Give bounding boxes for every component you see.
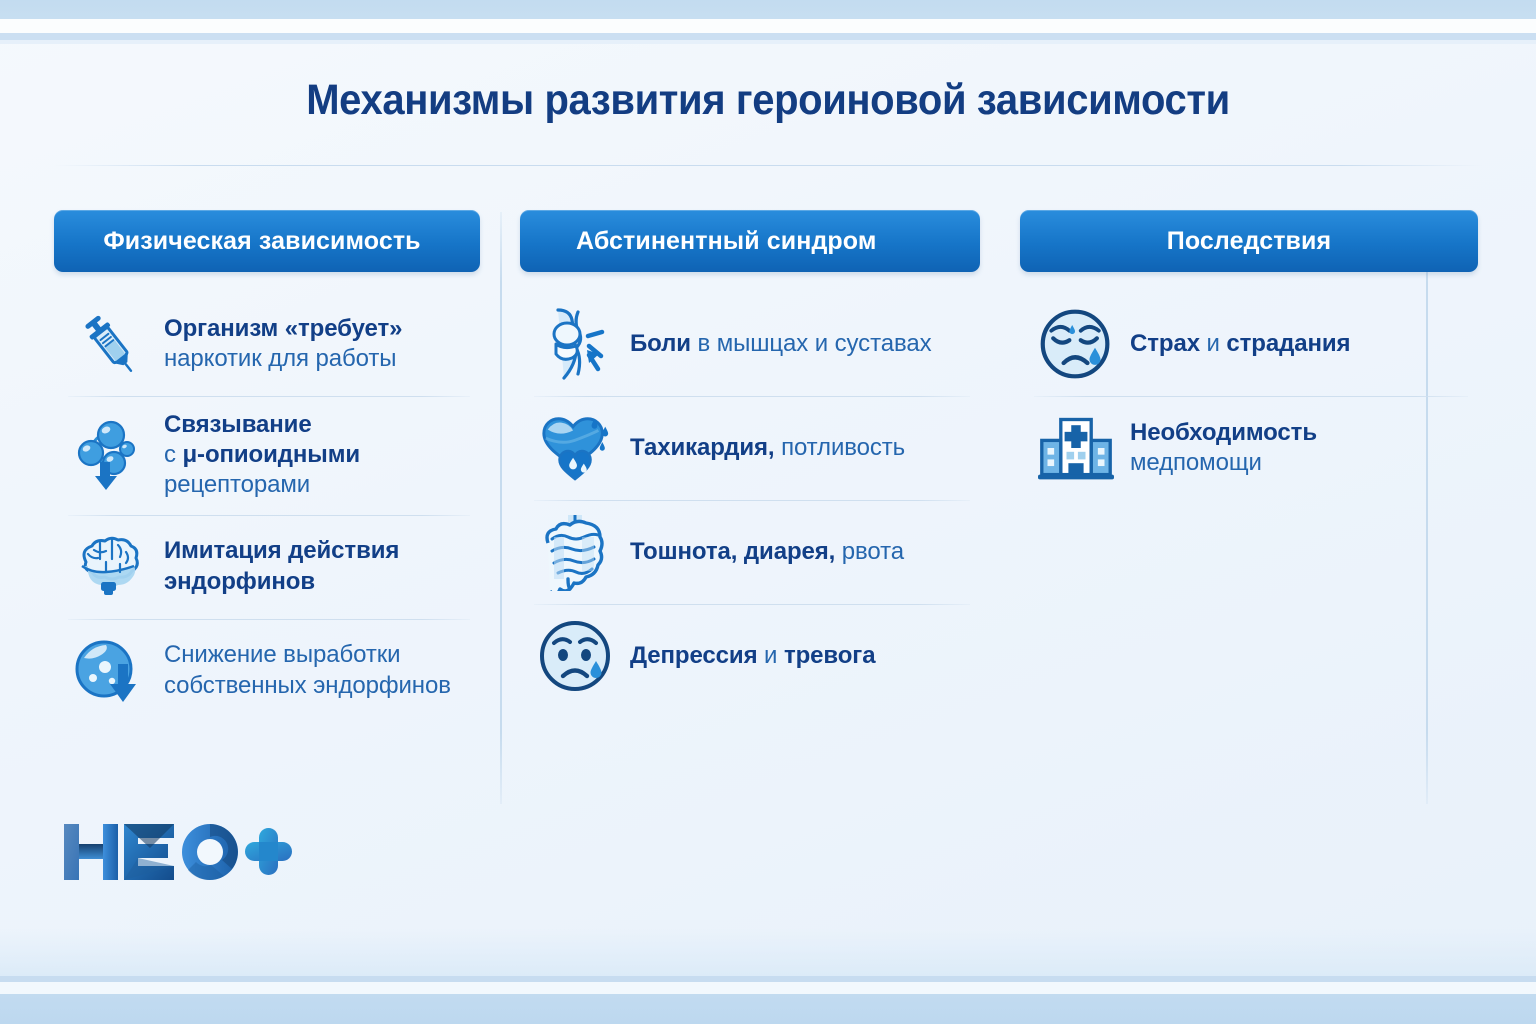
list-item-bold-2: тревога	[784, 642, 876, 669]
brand-logo	[62, 818, 294, 886]
list-item-text: Снижение выработки собственных эндорфино…	[164, 640, 451, 700]
column-consequences: Последствия Стр	[980, 210, 1478, 810]
list-item-text: Имитация действия эндорфинов	[164, 536, 399, 596]
column-header-label: Абстинентный синдром	[576, 227, 876, 256]
hospital-icon	[1038, 410, 1114, 486]
list-item-regular: медпомощи	[1130, 449, 1262, 476]
list-item-bold: Тошнота, диарея,	[630, 538, 835, 565]
list-item-bold: Страх	[1130, 330, 1200, 357]
cell-decrease-icon	[72, 633, 148, 709]
intestines-icon	[538, 514, 614, 590]
top-accent-line-soft	[0, 40, 1536, 44]
list-item-regular: рецепторами	[164, 471, 310, 498]
item-list-withdrawal: Боли в мышцах и суставах	[520, 292, 980, 708]
list-item: Депрессия и тревога	[520, 604, 980, 708]
crying-face-icon	[1038, 306, 1114, 382]
list-item-bold: Необходимость	[1130, 419, 1317, 446]
list-item-bold: Боли	[630, 330, 691, 357]
list-item-text: Страх и страдания	[1130, 329, 1350, 359]
list-item-regular: наркотик для работы	[164, 345, 396, 372]
list-item-text: Организм «требует» наркотик для работы	[164, 314, 402, 374]
bottom-decorative-band	[0, 994, 1536, 1024]
list-item-bold-2: эндорфинов	[164, 568, 315, 595]
column-header-label: Последствия	[1167, 227, 1331, 256]
title-underline-rule	[54, 165, 1482, 166]
infographic-page: Механизмы развития героиновой зависимост…	[0, 0, 1536, 1024]
list-item-bold: Депрессия	[630, 642, 757, 669]
list-item-bold: Имитация действия	[164, 537, 399, 564]
heart-sweat-icon	[538, 410, 614, 486]
list-item-text: Боли в мышцах и суставах	[630, 329, 931, 359]
column-header-physical: Физическая зависимость	[54, 210, 480, 272]
list-item: Необходимость медпомощи	[1020, 396, 1478, 500]
top-decorative-band	[0, 0, 1536, 19]
list-item: Снижение выработки собственных эндорфино…	[54, 619, 480, 723]
list-item-regular: рвота	[835, 538, 904, 565]
list-item-regular: и	[1200, 330, 1226, 357]
brain-icon	[72, 529, 148, 605]
top-accent-line	[0, 33, 1536, 40]
molecule-receptor-icon	[72, 417, 148, 493]
column-withdrawal-syndrome: Абстинентный синдром	[480, 210, 980, 810]
top-band-gap	[0, 19, 1536, 33]
list-item-text: Тошнота, диарея, рвота	[630, 537, 904, 567]
list-item-bold: Организм «требует»	[164, 315, 402, 342]
list-item: Связывание с μ-опиоидными рецепторами	[54, 396, 480, 515]
bottom-soft-gradient	[0, 928, 1536, 976]
columns-container: Физическая зависимость	[54, 210, 1482, 810]
list-item: Страх и страдания	[1020, 292, 1478, 396]
list-item-regular: потливость	[775, 434, 906, 461]
list-item-bold: Связывание	[164, 411, 312, 438]
list-item: Тахикардия, потливость	[520, 396, 980, 500]
list-item: Организм «требует» наркотик для работы	[54, 292, 480, 396]
page-title: Механизмы развития героиновой зависимост…	[54, 78, 1482, 123]
column-header-consequences: Последствия	[1020, 210, 1478, 272]
list-item-mid-regular: с	[164, 441, 182, 468]
list-item-regular: Снижение выработки	[164, 641, 400, 668]
column-header-withdrawal: Абстинентный синдром	[520, 210, 980, 272]
list-item: Тошнота, диарея, рвота	[520, 500, 980, 604]
joint-pain-icon	[538, 306, 614, 382]
column-header-label: Физическая зависимость	[103, 227, 420, 256]
list-item: Боли в мышцах и суставах	[520, 292, 980, 396]
list-item-bold: Тахикардия,	[630, 434, 775, 461]
list-item-regular: и	[757, 642, 783, 669]
list-item-mid-bold: μ-опиоидными	[182, 441, 360, 468]
bottom-band-gap	[0, 982, 1536, 994]
item-list-consequences: Страх и страдания	[1020, 292, 1478, 500]
list-item-regular: в мышцах и суставах	[691, 330, 932, 357]
list-item-text: Депрессия и тревога	[630, 641, 875, 671]
list-item-text: Тахикардия, потливость	[630, 433, 905, 463]
sad-face-icon	[538, 618, 614, 694]
list-item-regular-2: собственных эндорфинов	[164, 672, 451, 699]
syringe-icon	[72, 306, 148, 382]
column-physical-dependence: Физическая зависимость	[54, 210, 480, 810]
list-item: Имитация действия эндорфинов	[54, 515, 480, 619]
list-item-bold-2: страдания	[1226, 330, 1350, 357]
item-list-physical: Организм «требует» наркотик для работы	[54, 292, 480, 723]
list-item-text: Необходимость медпомощи	[1130, 418, 1317, 478]
list-item-text: Связывание с μ-опиоидными рецепторами	[164, 410, 360, 501]
